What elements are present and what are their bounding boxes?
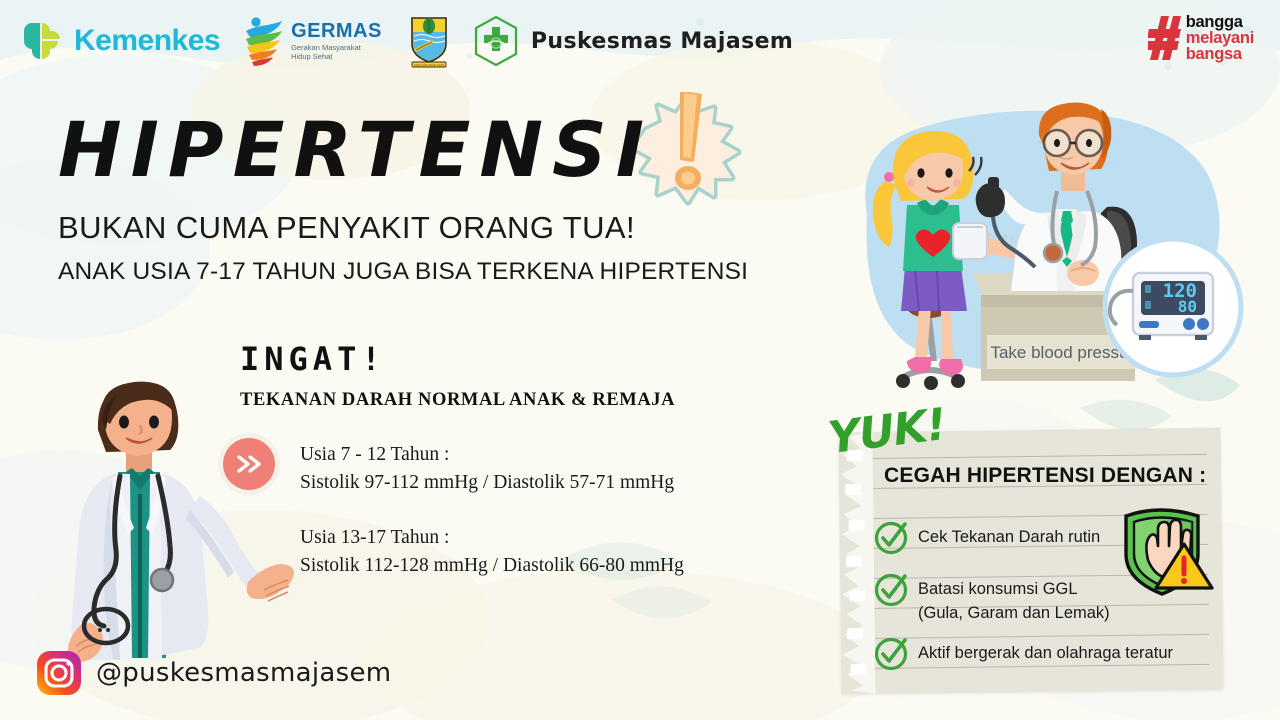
double-chevron-right-icon bbox=[218, 433, 280, 495]
instagram-icon[interactable] bbox=[36, 650, 82, 696]
hero-subtitle-2: ANAK USIA 7-17 TAHUN JUGA BISA TERKENA H… bbox=[58, 258, 748, 286]
circle-check-icon bbox=[872, 518, 910, 556]
hashtag-icon bbox=[1148, 14, 1182, 62]
hero-subtitle-1: BUKAN CUMA PENYAKIT ORANG TUA! bbox=[58, 210, 748, 246]
ingat-subheading: TEKANAN DARAH NORMAL ANAK & REMAJA bbox=[240, 390, 684, 411]
blood-pressure-list: Usia 7 - 12 Tahun : Sistolik 97-112 mmHg… bbox=[240, 441, 684, 580]
puskesmas-label: Puskesmas Majasem bbox=[531, 29, 793, 54]
prevention-item-2-line1: Batasi konsumsi GGL bbox=[918, 578, 1110, 602]
bangga-text: bangga melayani bangsa bbox=[1186, 14, 1254, 62]
prevention-card: CEGAH HIPERTENSI DENGAN : Cek Tekanan Da… bbox=[832, 430, 1222, 692]
kemenkes-logo: Kemenkes bbox=[18, 17, 220, 65]
list-item: Usia 7 - 12 Tahun : Sistolik 97-112 mmHg… bbox=[240, 441, 684, 496]
doctor-measuring-child-blood-pressure-illustration: Take blood pressure bbox=[845, 95, 1245, 400]
prevention-item-1-line1: Cek Tekanan Darah rutin bbox=[918, 526, 1100, 550]
instagram-link[interactable]: @puskesmasmajasem bbox=[36, 650, 391, 696]
crest-motto: SILIH ASIH ASAH ASUH bbox=[414, 63, 444, 67]
circle-check-icon bbox=[872, 570, 910, 608]
bangga-line-3: bangsa bbox=[1186, 46, 1254, 62]
monitor-diastolic: 80 bbox=[1178, 297, 1197, 316]
list-item: Batasi konsumsi GGL (Gula, Garam dan Lem… bbox=[872, 578, 1110, 626]
green-cross-hexagon-icon bbox=[472, 15, 520, 67]
prevention-content: CEGAH HIPERTENSI DENGAN : Cek Tekanan Da… bbox=[832, 430, 1222, 692]
puskesmas-logo: Puskesmas Majasem bbox=[472, 15, 793, 67]
bangga-line-1: bangga bbox=[1186, 14, 1254, 30]
kemenkes-pinwheel-icon bbox=[18, 17, 66, 65]
page-title: HIPERTENSI bbox=[58, 112, 748, 188]
kemenkes-label: Kemenkes bbox=[74, 24, 220, 58]
instagram-handle[interactable]: @puskesmasmajasem bbox=[96, 658, 391, 688]
ingat-section: INGAT! TEKANAN DARAH NORMAL ANAK & REMAJ… bbox=[240, 340, 684, 580]
hero-title-block: HIPERTENSI BUKAN CUMA PENYAKIT ORANG TUA… bbox=[58, 112, 748, 286]
bp-entry-2: Usia 13-17 Tahun : Sistolik 112-128 mmHg… bbox=[300, 524, 684, 579]
germas-tagline: Gerakan Masyarakat Hidup Sehat bbox=[291, 43, 382, 62]
city-crest-icon: SILIH ASIH ASAH ASUH bbox=[408, 14, 450, 68]
ingat-heading: INGAT! bbox=[240, 340, 684, 378]
bp-entry-1: Usia 7 - 12 Tahun : Sistolik 97-112 mmHg… bbox=[300, 441, 674, 496]
list-item: Aktif bergerak dan olahraga teratur bbox=[872, 642, 1173, 672]
circle-check-icon bbox=[872, 634, 910, 672]
bp-values-1: Sistolik 97-112 mmHg / Diastolik 57-71 m… bbox=[300, 469, 674, 497]
germas-text: GERMAS Gerakan Masyarakat Hidup Sehat bbox=[291, 21, 382, 62]
prevention-item-3-line1: Aktif bergerak dan olahraga teratur bbox=[918, 642, 1173, 666]
list-item: Usia 13-17 Tahun : Sistolik 112-128 mmHg… bbox=[240, 524, 684, 579]
shield-hand-warning-icon bbox=[1114, 502, 1214, 598]
germas-title: GERMAS bbox=[291, 21, 382, 41]
header-logo-strip: Kemenkes GERMAS Gerakan Masyarakat Hidup… bbox=[0, 0, 1280, 88]
prevention-title: CEGAH HIPERTENSI DENGAN : bbox=[884, 464, 1206, 488]
bp-values-2: Sistolik 112-128 mmHg / Diastolik 66-80 … bbox=[300, 552, 684, 580]
logo-row: Kemenkes GERMAS Gerakan Masyarakat Hidup… bbox=[18, 14, 793, 68]
germas-tagline-1: Gerakan Masyarakat bbox=[291, 43, 382, 52]
germas-tagline-2: Hidup Sehat bbox=[291, 52, 382, 61]
bangga-line-2: melayani bbox=[1186, 30, 1254, 46]
bp-age-2: Usia 13-17 Tahun : bbox=[300, 524, 684, 552]
list-item: Cek Tekanan Darah rutin bbox=[872, 526, 1100, 556]
prevention-item-2-line2: (Gula, Garam dan Lemak) bbox=[918, 602, 1110, 626]
prevention-item-1: Cek Tekanan Darah rutin bbox=[918, 526, 1100, 550]
germas-logo: GERMAS Gerakan Masyarakat Hidup Sehat bbox=[242, 15, 382, 67]
bp-age-1: Usia 7 - 12 Tahun : bbox=[300, 441, 674, 469]
germas-figure-icon bbox=[242, 15, 286, 67]
bangga-melayani-bangsa-logo: bangga melayani bangsa bbox=[1148, 14, 1254, 62]
prevention-item-3: Aktif bergerak dan olahraga teratur bbox=[918, 642, 1173, 666]
prevention-item-2: Batasi konsumsi GGL (Gula, Garam dan Lem… bbox=[918, 578, 1110, 626]
